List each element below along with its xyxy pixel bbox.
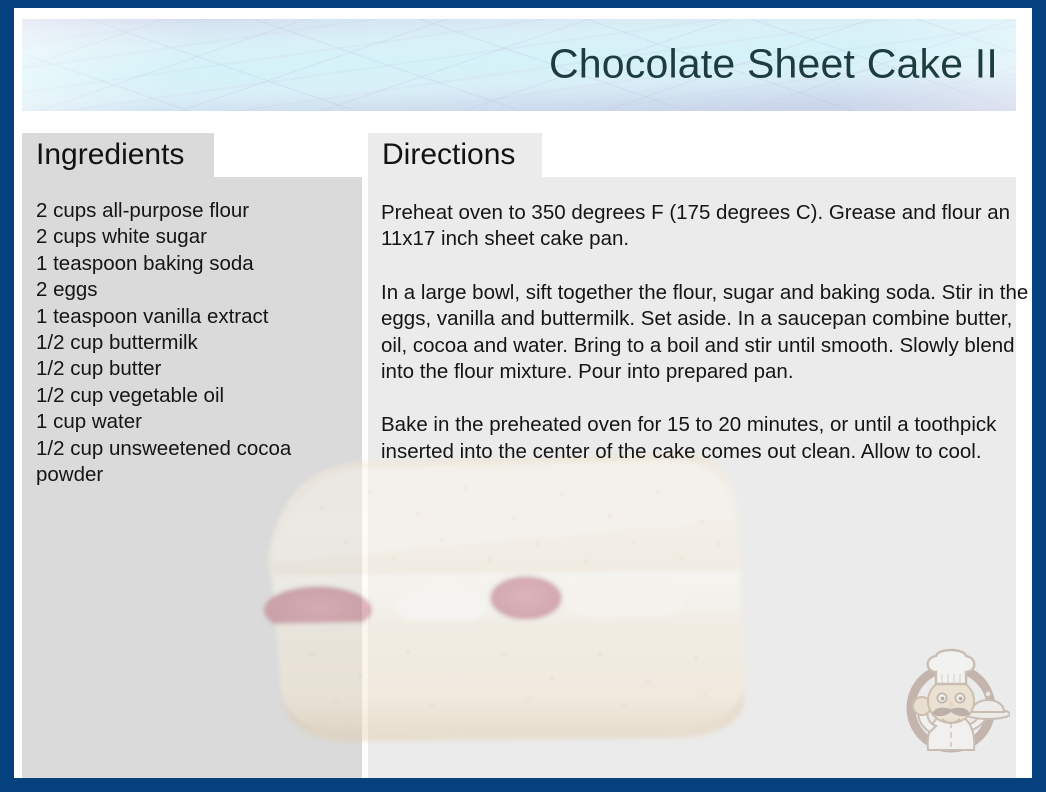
direction-step: Bake in the preheated oven for 15 to 20 … bbox=[381, 412, 1032, 465]
section-tab-ingredients: Ingredients bbox=[22, 133, 214, 177]
list-item: 1/2 cup butter bbox=[36, 356, 346, 382]
section-tab-directions: Directions bbox=[368, 133, 542, 177]
list-item: 1/2 cup vegetable oil bbox=[36, 383, 346, 409]
list-item: 1 cup water bbox=[36, 409, 346, 435]
direction-step: Preheat oven to 350 degrees F (175 degre… bbox=[381, 200, 1032, 253]
list-item: 2 eggs bbox=[36, 277, 346, 303]
directions-heading: Directions bbox=[382, 140, 515, 170]
page-title: Chocolate Sheet Cake II bbox=[549, 44, 998, 85]
header-banner: Chocolate Sheet Cake II bbox=[22, 19, 1016, 111]
list-item: 2 cups all-purpose flour bbox=[36, 198, 346, 224]
list-item: 1 teaspoon vanilla extract bbox=[36, 304, 346, 330]
ingredients-tab-notch bbox=[214, 133, 362, 177]
list-item: 2 cups white sugar bbox=[36, 224, 346, 250]
directions-body: Preheat oven to 350 degrees F (175 degre… bbox=[381, 200, 1032, 465]
recipe-card: Chocolate Sheet Cake II Ingredients Dire… bbox=[0, 0, 1046, 792]
list-item: 1/2 cup buttermilk bbox=[36, 330, 346, 356]
directions-tab-notch bbox=[542, 133, 1016, 177]
ingredients-heading: Ingredients bbox=[36, 140, 184, 170]
direction-step: In a large bowl, sift together the flour… bbox=[381, 280, 1032, 386]
list-item: 1 teaspoon baking soda bbox=[36, 251, 346, 277]
list-item: 1/2 cup unsweetened cocoa powder bbox=[36, 436, 346, 489]
card-inner-frame: Chocolate Sheet Cake II Ingredients Dire… bbox=[14, 8, 1032, 778]
ingredient-list: 2 cups all-purpose flour 2 cups white su… bbox=[36, 198, 346, 488]
